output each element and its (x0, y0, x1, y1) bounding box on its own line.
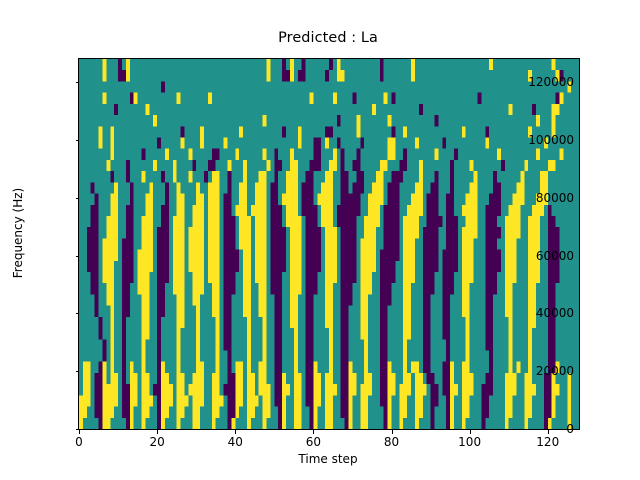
y-axis-label: Frequency (Hz) (11, 153, 25, 313)
y-tick-label: 20000 (536, 364, 574, 378)
x-tick-label: 0 (75, 435, 83, 449)
y-tick-mark (76, 198, 80, 199)
y-tick-mark (76, 256, 80, 257)
y-tick-label: 80000 (536, 191, 574, 205)
y-tick-label: 120000 (528, 75, 574, 89)
x-tick-label: 120 (536, 435, 559, 449)
x-tick-mark (313, 430, 314, 434)
x-tick-mark (79, 430, 80, 434)
x-tick-label: 60 (306, 435, 321, 449)
x-tick-label: 100 (458, 435, 481, 449)
x-tick-label: 80 (384, 435, 399, 449)
y-tick-mark (76, 82, 80, 83)
y-tick-mark (76, 140, 80, 141)
x-tick-mark (392, 430, 393, 434)
heatmap-axes: 0204060801001200200004000060000800001000… (78, 58, 580, 430)
x-tick-mark (548, 430, 549, 434)
y-tick-mark (76, 429, 80, 430)
heatmap-image (79, 59, 579, 429)
y-tick-mark (76, 371, 80, 372)
page-title: Predicted : La (78, 30, 578, 46)
x-tick-label: 40 (228, 435, 243, 449)
x-axis-label: Time step (78, 452, 578, 466)
x-tick-label: 20 (149, 435, 164, 449)
y-tick-label: 60000 (536, 249, 574, 263)
x-tick-mark (470, 430, 471, 434)
x-tick-mark (157, 430, 158, 434)
y-tick-mark (76, 313, 80, 314)
y-tick-label: 100000 (528, 133, 574, 147)
x-tick-mark (235, 430, 236, 434)
matplotlib-figure: Predicted : La 0204060801001200200004000… (0, 0, 640, 480)
y-tick-label: 40000 (536, 306, 574, 320)
y-tick-label: 0 (566, 422, 574, 436)
